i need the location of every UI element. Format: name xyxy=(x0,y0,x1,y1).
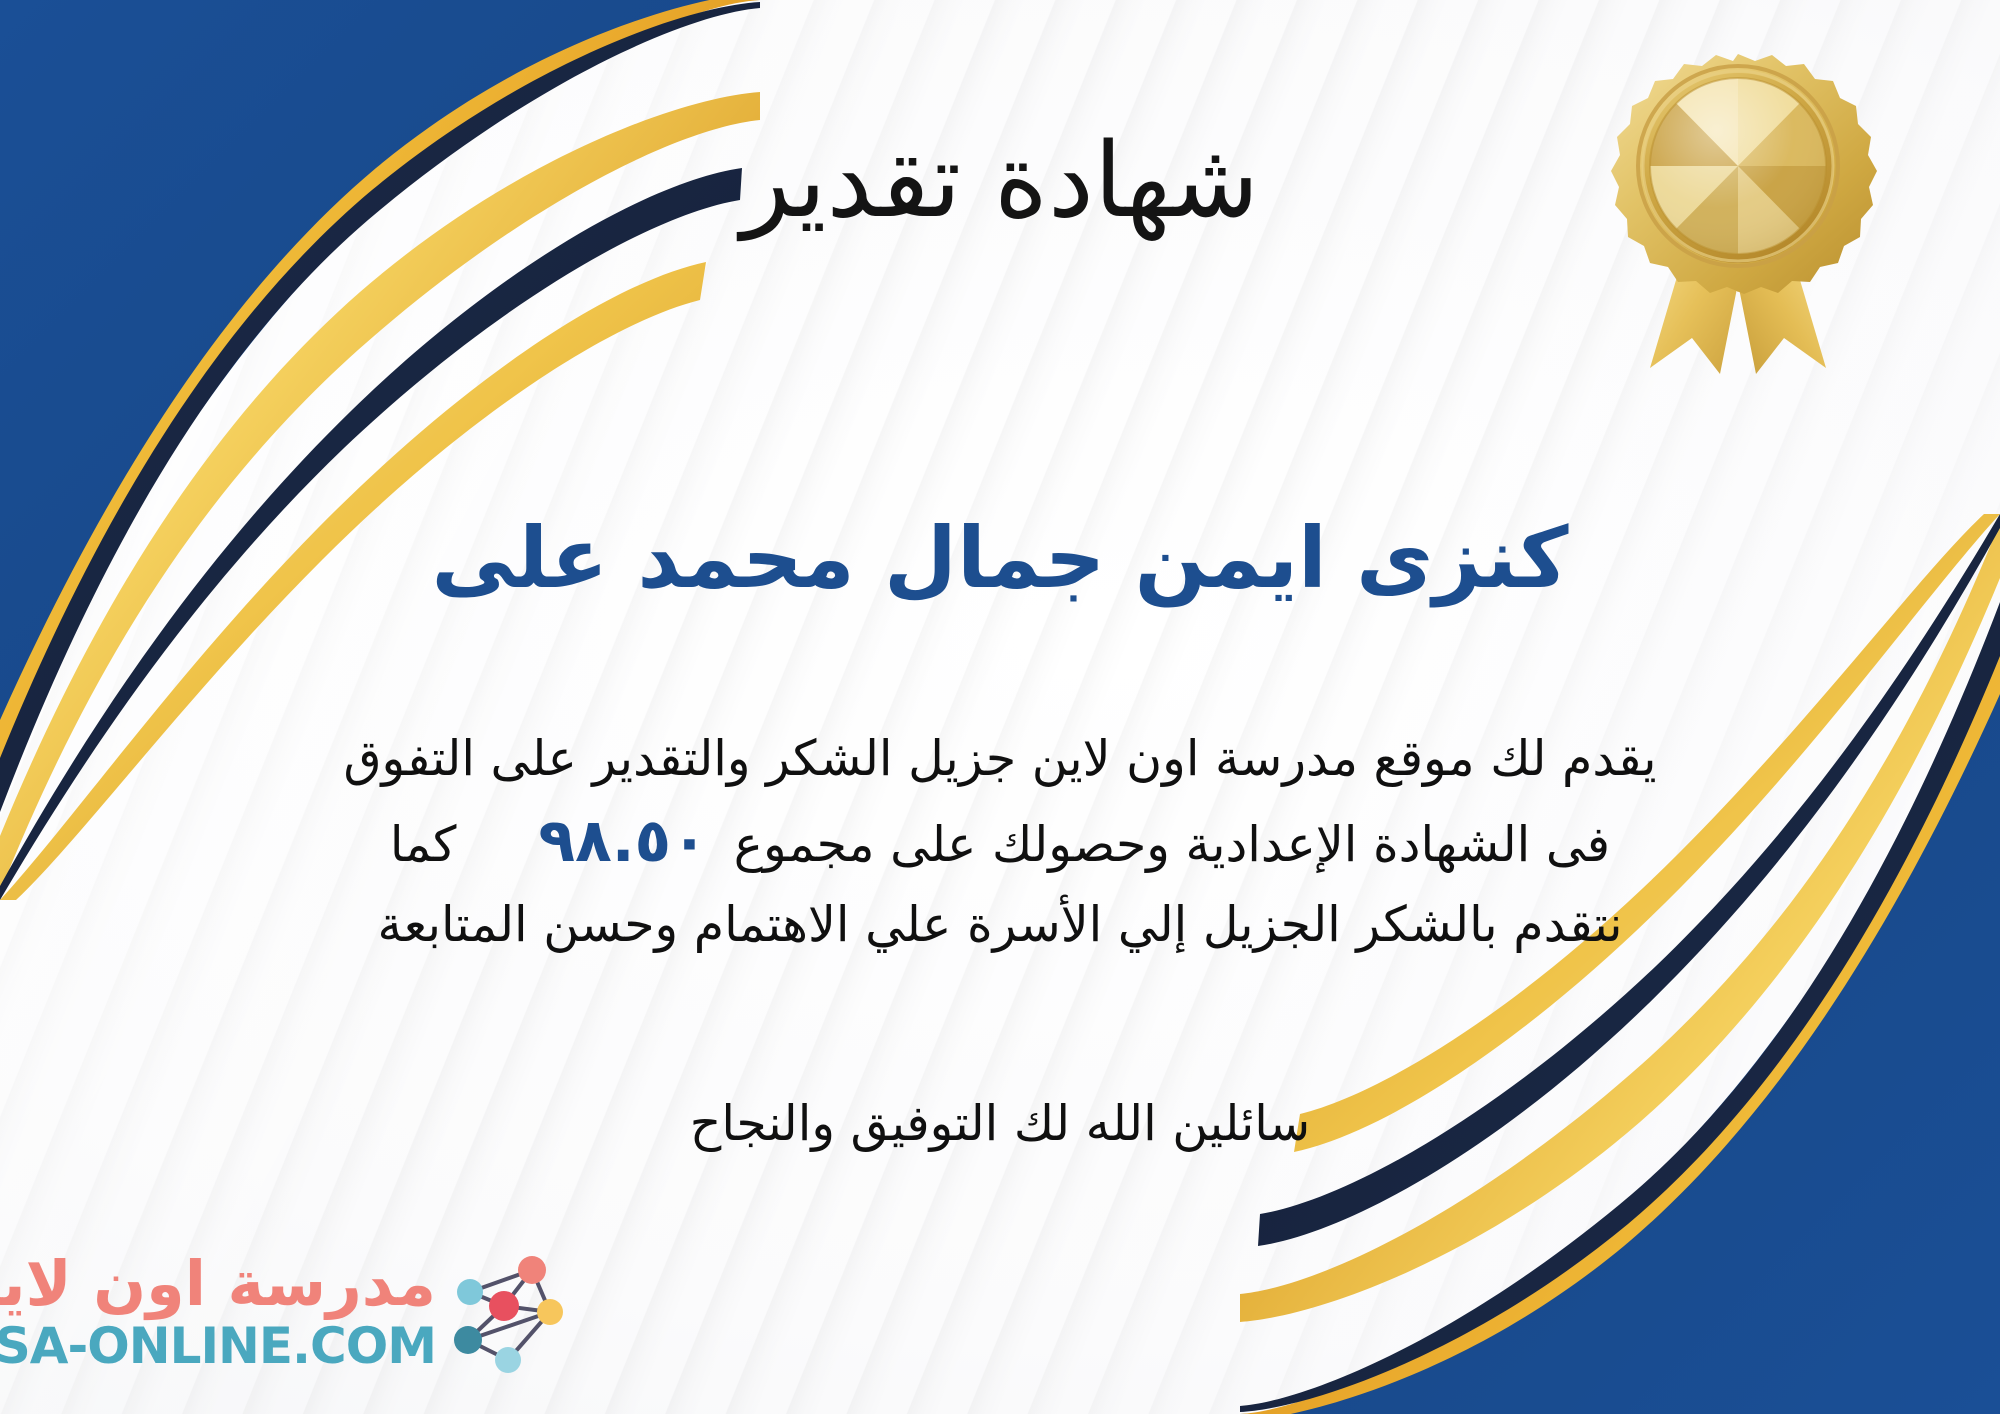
certificate-body: يقدم لك موقع مدرسة اون لاين جزيل الشكر و… xyxy=(52,722,1948,962)
certificate-title: شهادة تقدير xyxy=(0,122,2000,240)
closing-line: سائلين الله لك التوفيق والنجاح xyxy=(0,1090,2000,1159)
logo-arabic-text: مدرسة اون لاين xyxy=(0,1253,436,1315)
body-line-2: فى الشهادة الإعدادية وحصولك على مجموع ٩٨… xyxy=(52,796,1948,887)
body-line-2-suffix: كما xyxy=(390,808,457,882)
site-logo[interactable]: مدرسة اون لاين MADRSA-ONLINE.COM xyxy=(24,1232,564,1392)
grade-value: ٩٨.٥٠ xyxy=(539,796,708,887)
certificate-canvas: شهادة تقدير كنزى ايمن جمال محمد على يقدم… xyxy=(0,0,2000,1414)
body-line-3: نتقدم بالشكر الجزيل إلي الأسرة علي الاهت… xyxy=(52,888,1948,962)
certificate-content: شهادة تقدير كنزى ايمن جمال محمد على يقدم… xyxy=(0,0,2000,1414)
body-line-2-text: فى الشهادة الإعدادية وحصولك على مجموع xyxy=(734,808,1610,882)
recipient-name: كنزى ايمن جمال محمد على xyxy=(0,508,2000,609)
network-nodes-icon xyxy=(446,1248,564,1376)
body-line-1: يقدم لك موقع مدرسة اون لاين جزيل الشكر و… xyxy=(52,722,1948,796)
logo-website-text: MADRSA-ONLINE.COM xyxy=(0,1321,436,1371)
